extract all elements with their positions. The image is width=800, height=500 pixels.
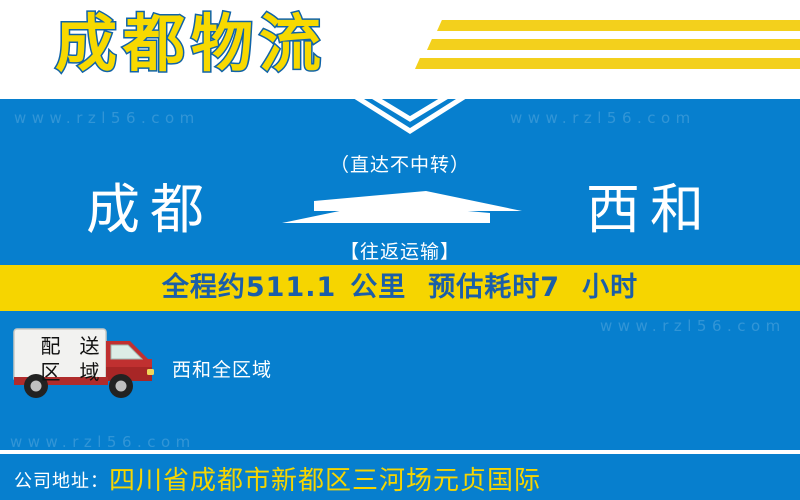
banner-body: www.rzl56.com www.rzl56.com www.rzl56.co… bbox=[0, 95, 800, 500]
roundtrip-note: 【往返运输】 bbox=[270, 237, 530, 264]
truck-char-2: 送 bbox=[70, 333, 109, 359]
route-middle: （直达不中转） 【往返运输】 bbox=[270, 155, 530, 270]
company-address-row: 公司地址：四川省成都市新都区三河场元贞国际 bbox=[0, 458, 800, 500]
divider-bottom bbox=[0, 450, 800, 454]
destination-city: 西和 bbox=[520, 155, 780, 265]
truck-cargo-label: 配 送 区 域 bbox=[31, 333, 109, 385]
origin-city: 成都 bbox=[20, 155, 280, 265]
delivery-truck-icon: 配 送 区 域 bbox=[8, 327, 160, 399]
decorative-stripe-2 bbox=[427, 39, 800, 50]
truck-char-4: 域 bbox=[70, 359, 109, 385]
duration-label: 预估耗时 bbox=[428, 272, 540, 303]
truck-char-3: 区 bbox=[31, 359, 70, 385]
truck-char-1: 配 bbox=[31, 333, 70, 359]
delivery-row: 配 送 区 域 西和全区域 bbox=[0, 327, 800, 412]
distance-value: 511.1 bbox=[246, 272, 336, 303]
metrics-bar: 全程约511.1公里预估耗时7小时 bbox=[0, 265, 800, 311]
logistics-banner: 成都物流 www.rzl56.com www.rzl56.com www.rzl… bbox=[0, 0, 800, 500]
double-chevron-down-icon bbox=[345, 95, 475, 141]
route-row: 成都 （直达不中转） 【往返运输】 西和 bbox=[0, 155, 800, 270]
decorative-stripe-3 bbox=[415, 58, 800, 69]
duration-value: 7 bbox=[540, 272, 560, 303]
distance-unit: 公里 bbox=[350, 272, 406, 303]
watermark-4: www.rzl56.com bbox=[10, 433, 196, 451]
distance-label: 全程约 bbox=[162, 272, 246, 303]
metrics-text: 全程约511.1公里预估耗时7小时 bbox=[0, 265, 800, 311]
banner-header: 成都物流 bbox=[0, 0, 800, 95]
address-value: 四川省成都市新都区三河场元贞国际 bbox=[109, 466, 541, 496]
page-title: 成都物流 bbox=[55, 2, 327, 86]
double-arrow-icon bbox=[278, 189, 526, 235]
duration-unit: 小时 bbox=[582, 272, 638, 303]
decorative-stripe-1 bbox=[437, 20, 800, 31]
coverage-area-text: 西和全区域 bbox=[172, 355, 272, 382]
watermark-1: www.rzl56.com bbox=[14, 109, 200, 127]
watermark-2: www.rzl56.com bbox=[510, 109, 696, 127]
address-label: 公司地址： bbox=[14, 471, 109, 492]
direct-service-note: （直达不中转） bbox=[270, 150, 530, 177]
